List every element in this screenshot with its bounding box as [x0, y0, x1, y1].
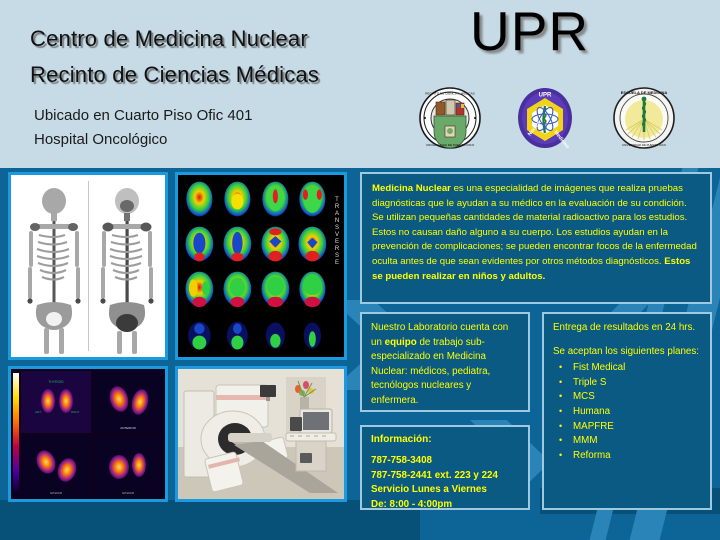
- pet-brain-image: TRANSVERSE: [175, 172, 347, 360]
- escuela-de-medicina-seal-logo: ESCUELA DE MEDICINA UNIVERSIDAD DE PUERT…: [612, 86, 676, 150]
- phone-primary[interactable]: 787-758-3408: [371, 454, 519, 469]
- about-nuclear-medicine-text: Medicina Nuclear es una especialidad de …: [372, 182, 700, 284]
- svg-text:UNIVERSIDAD DE PUERTO RICO: UNIVERSIDAD DE PUERTO RICO: [426, 143, 475, 147]
- about-lead-bold: Medicina Nuclear: [372, 183, 451, 194]
- thyroid-scan-image: THYROID LEFT RIGHT ANTERIOR ANTERIOR ANT…: [8, 366, 168, 502]
- pet-brain-grid: [182, 179, 330, 355]
- list-item: Triple S: [557, 376, 701, 391]
- service-hours: De: 8:00 - 4:00pm: [371, 498, 519, 513]
- list-item: MAPFRE: [557, 420, 701, 435]
- upr-wordmark: UPR: [470, 4, 589, 59]
- svg-text:THYROID: THYROID: [48, 380, 64, 384]
- pet-ct-scanner-photo: [175, 366, 347, 502]
- list-item: Humana: [557, 405, 701, 420]
- svg-text:ESCUELA DE MEDICINA: ESCUELA DE MEDICINA: [621, 90, 668, 95]
- svg-text:LEFT: LEFT: [35, 410, 42, 414]
- service-days: Servicio Lunes a Viernes: [371, 483, 519, 498]
- svg-text:RECINTO DE CIENCIAS MEDICAS: RECINTO DE CIENCIAS MEDICAS: [425, 91, 474, 95]
- pet-orientation-label: TRANSVERSE: [331, 197, 343, 267]
- hospital-line: Hospital Oncológico: [34, 131, 167, 148]
- bone-scan-graphic: [17, 181, 163, 355]
- laboratory-team-panel: Nuestro Laboratorio cuenta con un equipo…: [360, 312, 530, 412]
- about-nuclear-medicine-panel: Medicina Nuclear es una especialidad de …: [360, 172, 712, 304]
- poster-header: Centro de Medicina Nuclear Recinto de Ci…: [0, 0, 720, 168]
- lab-bold-word: equipo: [385, 337, 417, 348]
- upr-nuclear-medicine-logo: UPR Nuclear Medicine: [513, 86, 577, 150]
- location-line: Ubicado en Cuarto Piso Ofic 401: [34, 107, 252, 124]
- about-body-text: es una especialidad de imágenes que real…: [372, 183, 697, 267]
- svg-text:ANTERIOR: ANTERIOR: [50, 492, 63, 495]
- svg-text:UPR: UPR: [539, 93, 552, 99]
- contact-heading: Información:: [371, 434, 519, 445]
- accepted-plans-panel: Entrega de resultados en 24 hrs. Se acep…: [542, 312, 712, 510]
- svg-text:UNIVERSIDAD DE PUERTO RICO: UNIVERSIDAD DE PUERTO RICO: [622, 143, 667, 147]
- accepted-plans-heading: Se aceptan los siguientes planes:: [553, 345, 701, 360]
- phone-secondary[interactable]: 787-758-2441 ext. 223 y 224: [371, 469, 519, 484]
- page-subtitle: Recinto de Ciencias Médicas: [30, 62, 319, 88]
- plans-spacer: [553, 336, 701, 345]
- svg-text:RIGHT: RIGHT: [71, 410, 79, 414]
- scanner-room-graphic: [178, 369, 344, 499]
- thyroid-color-bar: [13, 373, 19, 495]
- list-item: Fist Medical: [557, 361, 701, 376]
- laboratory-team-text: Nuestro Laboratorio cuenta con un equipo…: [371, 321, 519, 409]
- results-delivery-text: Entrega de resultados en 24 hrs.: [553, 321, 701, 336]
- thyroid-grid: THYROID LEFT RIGHT ANTERIOR ANTERIOR ANT…: [21, 371, 163, 497]
- bone-scan-image: [8, 172, 168, 360]
- list-item: MMM: [557, 434, 701, 449]
- list-item: MCS: [557, 390, 701, 405]
- list-item: Reforma: [557, 449, 701, 464]
- bg-band-bottom-left: [0, 500, 420, 540]
- contact-information-panel: Información: 787-758-3408 787-758-2441 e…: [360, 425, 530, 510]
- page-title: Centro de Medicina Nuclear: [30, 26, 308, 52]
- accepted-plans-list: Fist Medical Triple S MCS Humana MAPFRE …: [553, 361, 701, 463]
- rcm-seal-logo: RECINTO DE CIENCIAS MEDICAS UNIVERSIDAD …: [418, 86, 482, 150]
- svg-text:ANTERIOR: ANTERIOR: [122, 492, 135, 495]
- svg-text:ANTERIOR: ANTERIOR: [120, 426, 136, 430]
- poster-root: Centro de Medicina Nuclear Recinto de Ci…: [0, 0, 720, 540]
